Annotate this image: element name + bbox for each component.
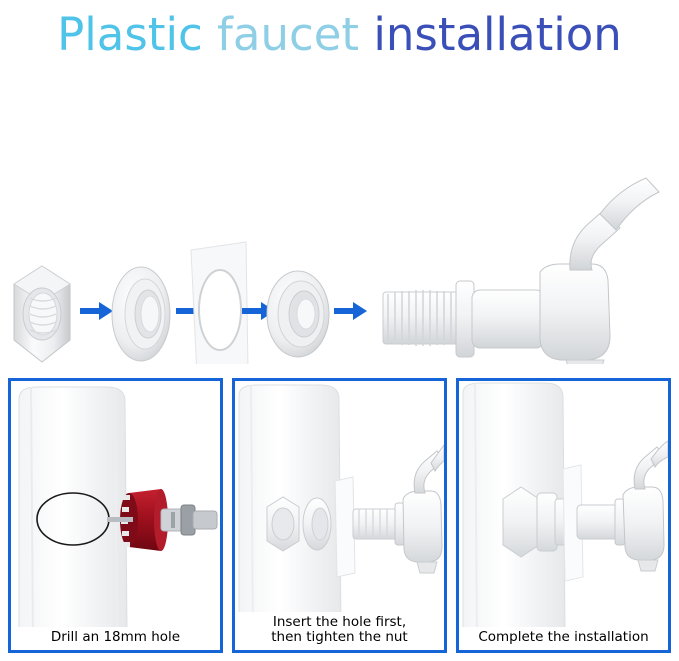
panel-drill-illustration [11,381,220,650]
page-title-bar: Plastic faucet installation [0,0,679,68]
panel-complete-illustration [459,381,668,650]
page-title: Plastic faucet installation [57,8,622,61]
arrow-4-icon [334,302,367,320]
part-hex-nut [14,266,70,362]
part-gasket-ring [267,271,329,357]
panel-insert-caption-line2: then tighten the nut [271,629,407,645]
part-container-wall [191,242,248,364]
title-word-faucet: faucet [217,8,373,61]
panel-complete-caption: Complete the installation [459,627,668,650]
title-word-installation: installation [373,8,621,61]
panel-insert-caption-line1: Insert the hole first, [273,614,406,630]
panel-drill-caption: Drill an 18mm hole [11,627,220,650]
panel-insert-illustration [235,381,444,650]
part-faucet-assembly [383,178,659,364]
panel-complete: Complete the installation [456,378,671,653]
part-rubber-washer [112,267,170,361]
panel-drill: Drill an 18mm hole [8,378,223,653]
panel-insert-caption: Insert the hole first, then tighten the … [235,612,444,650]
title-word-plastic: Plastic [57,8,217,61]
insert-nut [267,497,299,551]
arrow-1-icon [80,302,113,320]
insert-washer [303,498,331,550]
instruction-panels: Drill an 18mm hole [8,378,671,653]
exploded-diagram-svg [0,74,679,364]
panel-insert: Insert the hole first, then tighten the … [232,378,447,653]
exploded-diagram [0,74,679,364]
